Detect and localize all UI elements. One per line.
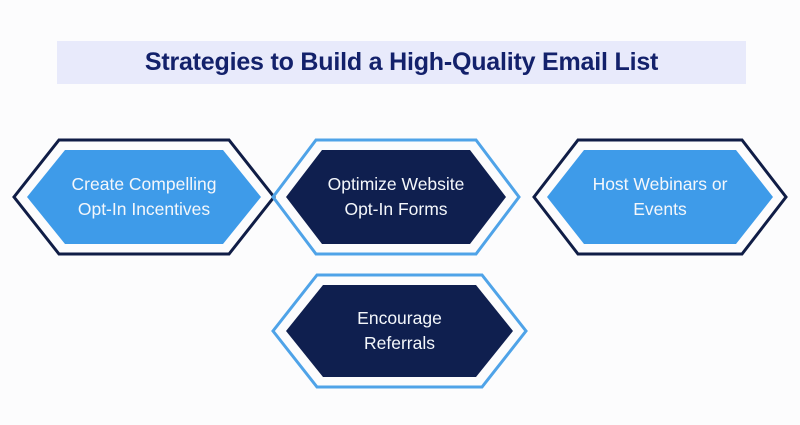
hexagon-shape-3 — [533, 139, 787, 255]
title-band: Strategies to Build a High-Quality Email… — [57, 41, 746, 84]
hexagon-fill-3 — [547, 150, 773, 244]
hexagon-node-3[interactable]: Host Webinars or Events — [533, 139, 787, 255]
hexagon-shape-1 — [13, 139, 275, 255]
infographic-canvas: Strategies to Build a High-Quality Email… — [0, 0, 800, 425]
hexagon-fill-4 — [286, 285, 513, 377]
hexagon-node-2[interactable]: Optimize Website Opt-In Forms — [272, 139, 520, 255]
hexagon-fill-2 — [286, 150, 506, 244]
hexagon-shape-4 — [272, 274, 527, 388]
page-title: Strategies to Build a High-Quality Email… — [145, 50, 658, 75]
hexagon-node-4[interactable]: Encourage Referrals — [272, 274, 527, 388]
hexagon-shape-2 — [272, 139, 520, 255]
hexagon-node-1[interactable]: Create Compelling Opt-In Incentives — [13, 139, 275, 255]
hexagon-fill-1 — [27, 150, 261, 244]
